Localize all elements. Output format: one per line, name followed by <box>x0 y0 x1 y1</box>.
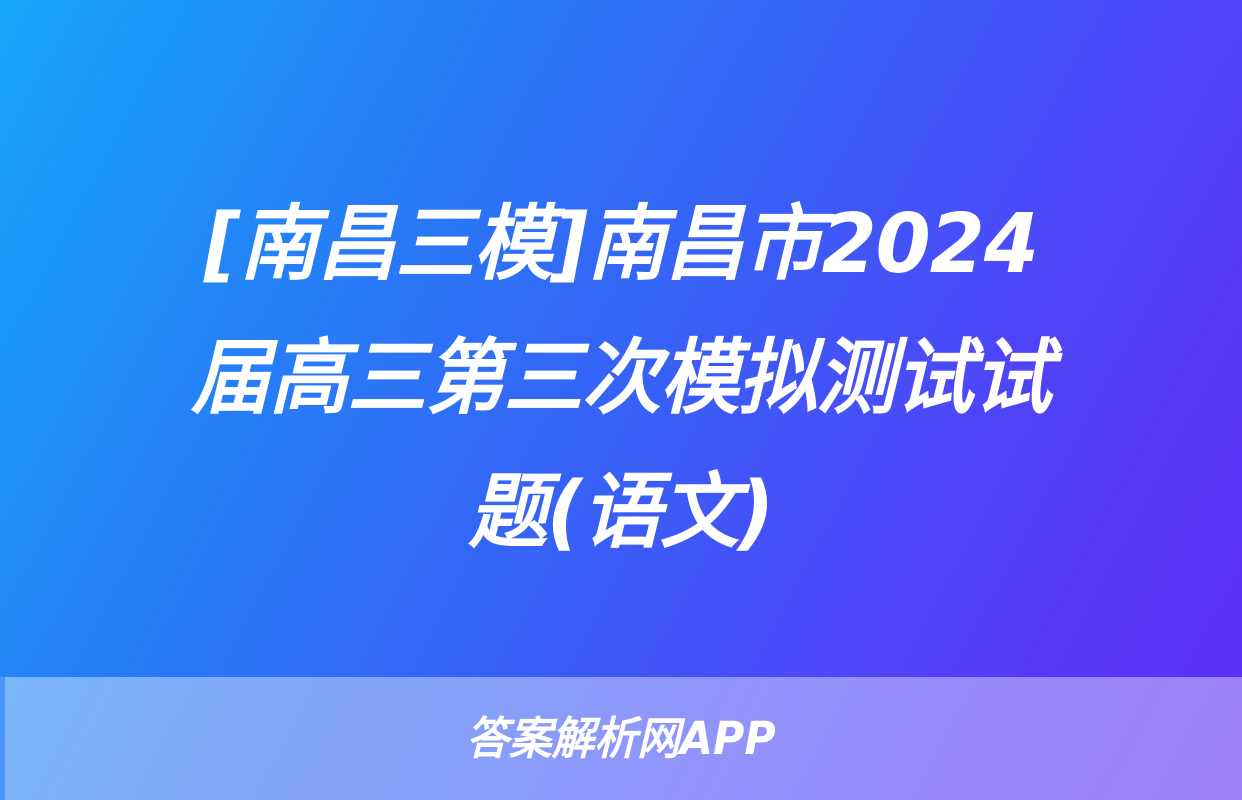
watermark-text: 答案解析网APP <box>466 716 776 761</box>
poster-card: [南昌三模]南昌市2024 届高三第三次模拟测试试 题(语文) 答案解析网APP <box>0 0 1242 800</box>
title-line-2: 届高三第三次模拟测试试 <box>114 312 1127 446</box>
title-line-1: [南昌三模]南昌市2024 <box>114 178 1127 312</box>
page-title: [南昌三模]南昌市2024 届高三第三次模拟测试试 题(语文) <box>96 178 1146 580</box>
watermark-banner: 答案解析网APP <box>0 677 1242 800</box>
title-line-3: 题(语文) <box>114 446 1127 580</box>
